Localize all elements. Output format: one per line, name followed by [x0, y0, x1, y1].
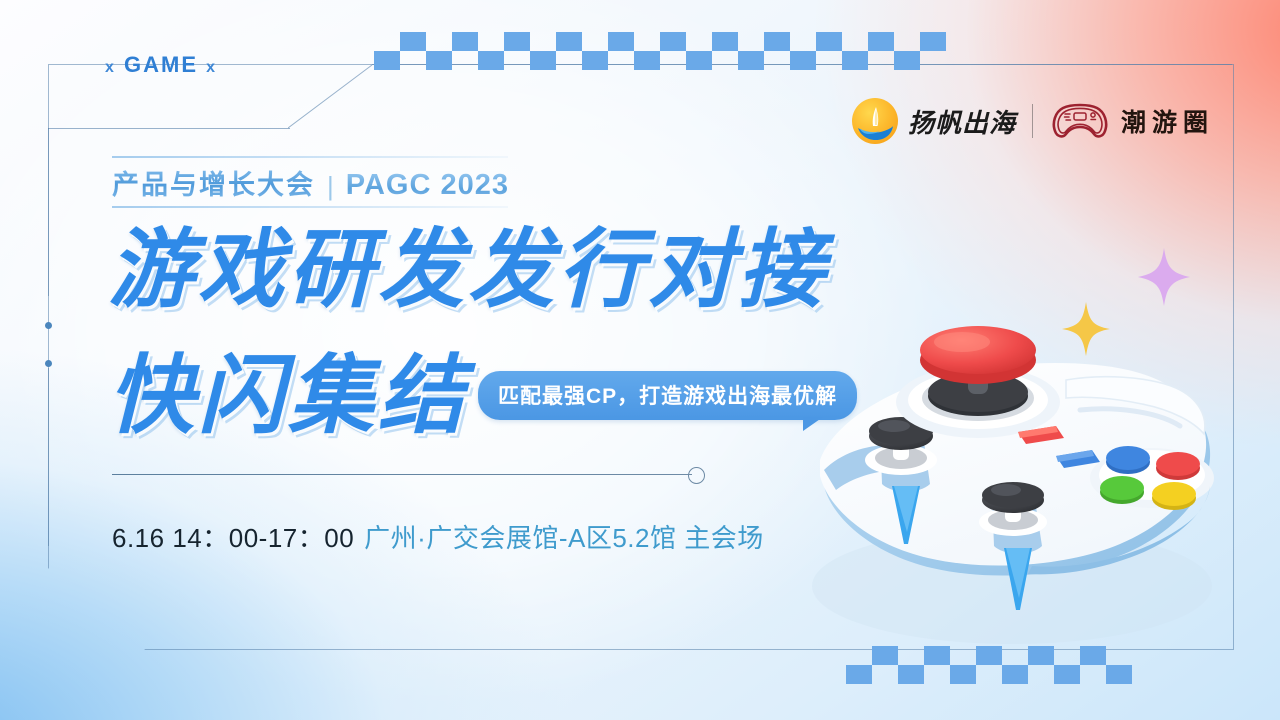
sail-circle-icon	[852, 98, 898, 144]
frame-dot-lower	[45, 360, 52, 367]
headline: 游戏研发发行对接	[108, 228, 828, 312]
sparkle-purple-icon	[1138, 248, 1190, 306]
event-venue: 广州·广交会展馆-A区5.2馆 主会场	[364, 518, 764, 555]
gamepad-illustration	[780, 318, 1250, 668]
promo-banner: x GAME x 扬帆出海	[0, 0, 1280, 720]
headline-line-2-wrap: 快闪集结	[108, 344, 468, 438]
game-tag: x GAME x	[105, 52, 217, 78]
logo-lockup: 扬帆出海 潮游圈	[852, 98, 1214, 144]
frame-notch-horizontal	[48, 128, 290, 129]
frame-notch-diagonal	[288, 64, 374, 129]
logo-chaoyouquan-text: 潮游圈	[1121, 103, 1214, 139]
game-tag-prefix: x	[105, 59, 116, 76]
section-divider	[112, 474, 692, 475]
headline-line-1: 游戏研发发行对接	[108, 228, 828, 312]
headline-line-2: 快闪集结	[108, 354, 468, 438]
conference-title-cn: 产品与增长大会	[112, 163, 315, 202]
conference-rule-top	[112, 156, 508, 158]
conference-title-divider: |	[325, 171, 336, 202]
game-tag-suffix: x	[206, 59, 217, 76]
logo-chaoyouquan: 潮游圈	[1049, 101, 1214, 141]
conference-title-en: PAGC 2023	[346, 169, 509, 202]
frame-left-upper	[48, 128, 49, 296]
conference-rule-bottom	[112, 206, 508, 208]
event-date-time: 6.16 14：00-17：00	[112, 518, 354, 555]
logo-yangfanchuhai-text: 扬帆出海	[908, 103, 1016, 140]
checkerboard-top	[374, 32, 946, 70]
logo-divider	[1032, 104, 1033, 138]
logo-yangfanchuhai: 扬帆出海	[852, 98, 1016, 144]
frame-dot-upper	[45, 322, 52, 329]
game-tag-label: GAME	[124, 52, 198, 77]
frame-left-lower	[48, 368, 49, 546]
event-info: 6.16 14：00-17：00 广州·广交会展馆-A区5.2馆 主会场	[112, 518, 764, 555]
divider-end-circle-icon	[688, 467, 705, 484]
conference-title: 产品与增长大会 | PAGC 2023	[112, 163, 509, 202]
gamepad-outline-icon	[1049, 101, 1111, 141]
